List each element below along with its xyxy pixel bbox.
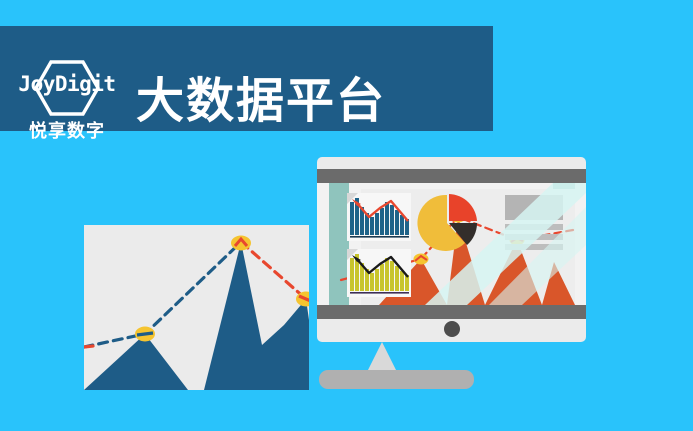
left-chart-svg — [84, 225, 309, 390]
marker-overlay — [137, 333, 153, 335]
monitor-bezel-top — [317, 169, 586, 183]
document-line — [505, 224, 563, 230]
left-chart-panel — [84, 225, 309, 390]
monitor-stand-neck — [368, 342, 396, 370]
monitor-screen — [317, 183, 586, 305]
mountain-shape-left — [84, 242, 309, 390]
monitor-bezel-bottom — [317, 305, 586, 319]
card-fold-corner — [347, 249, 358, 260]
monitor-illustration — [317, 157, 586, 342]
brand-logo: JoyDigit 悦享数字 — [14, 60, 120, 148]
document-header-block — [505, 195, 563, 220]
bar-chart-olive-card — [347, 249, 411, 297]
trend-line-blue-dashed — [84, 242, 241, 347]
card-fold-corner — [347, 193, 358, 204]
document-line — [505, 244, 563, 250]
document-line — [505, 234, 563, 240]
pie-chart — [417, 193, 477, 253]
logo-subtitle: 悦享数字 — [14, 122, 120, 140]
monitor-stand-base — [319, 370, 474, 389]
page-title: 大数据平台 — [136, 74, 386, 129]
trend-stub-red — [84, 346, 93, 347]
monitor-power-indicator — [444, 321, 460, 337]
bar-chart-blue-card — [347, 193, 411, 241]
illustration-canvas: JoyDigit 悦享数字 大数据平台 — [0, 0, 693, 431]
logo-wordmark: JoyDigit — [14, 74, 120, 95]
header-band: JoyDigit 悦享数字 大数据平台 — [0, 26, 493, 131]
pie-slice-red — [449, 194, 477, 221]
document-block — [505, 195, 563, 250]
